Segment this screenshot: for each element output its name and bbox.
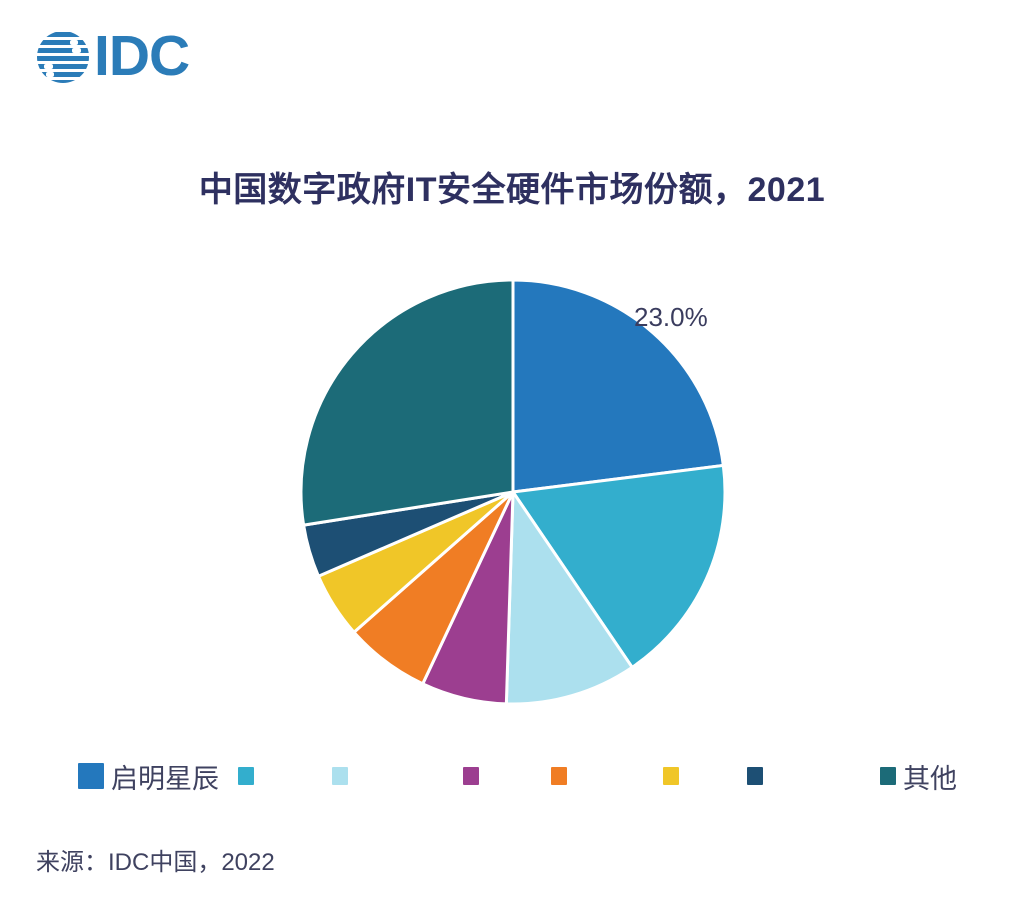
pie-svg bbox=[293, 272, 733, 712]
pie-slice bbox=[301, 280, 513, 525]
pie-data-label-0: 23.0% bbox=[634, 302, 708, 333]
legend-item[interactable] bbox=[663, 758, 679, 794]
source-note: 来源：IDC中国，2022 bbox=[36, 842, 275, 877]
legend-label-0: 启明星辰 bbox=[111, 757, 219, 796]
chart-page: IDC 中国数字政府IT安全硬件市场份额，2021 23.0% 启明星辰其他 来… bbox=[0, 0, 1024, 905]
chart-legend: 启明星辰其他 bbox=[0, 758, 1024, 798]
legend-swatch-7 bbox=[880, 767, 896, 785]
pie-chart: 23.0% bbox=[0, 0, 1024, 460]
legend-swatch-1 bbox=[238, 767, 254, 785]
legend-swatch-5 bbox=[663, 767, 679, 785]
legend-item[interactable] bbox=[551, 758, 567, 794]
legend-label-7: 其他 bbox=[903, 757, 957, 796]
legend-item[interactable] bbox=[332, 758, 348, 794]
legend-item[interactable] bbox=[238, 758, 254, 794]
legend-swatch-6 bbox=[747, 767, 763, 785]
legend-swatch-0 bbox=[78, 763, 104, 789]
legend-item[interactable] bbox=[463, 758, 479, 794]
legend-item[interactable] bbox=[747, 758, 763, 794]
legend-swatch-3 bbox=[463, 767, 479, 785]
legend-swatch-4 bbox=[551, 767, 567, 785]
legend-item[interactable]: 启明星辰 bbox=[78, 758, 219, 794]
legend-item[interactable]: 其他 bbox=[880, 758, 957, 794]
legend-swatch-2 bbox=[332, 767, 348, 785]
